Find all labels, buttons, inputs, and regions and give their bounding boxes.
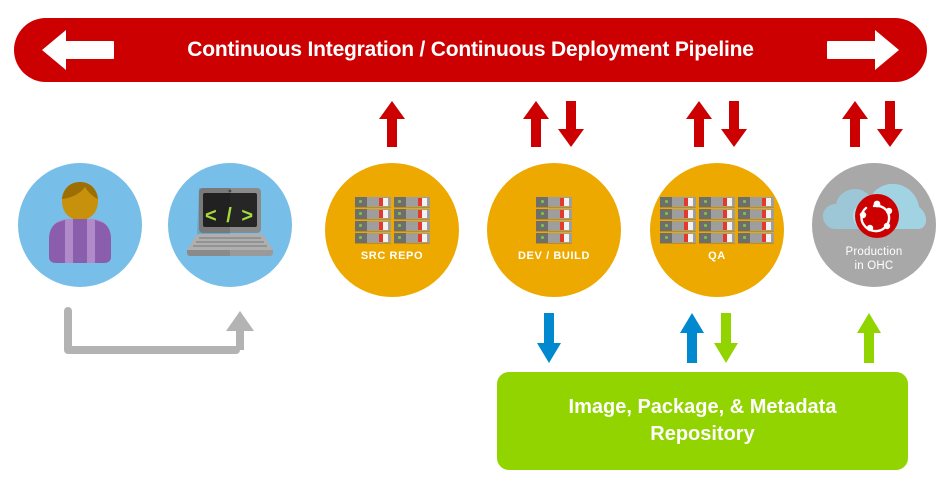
node-dev-build-label: DEV / BUILD [518,250,590,264]
node-dev-build[interactable]: DEV / BUILD [487,163,621,297]
server-rack-icon [355,197,430,244]
pipeline-banner: Continuous Integration / Continuous Depl… [14,18,927,82]
repo-arrow-production-up [855,312,883,364]
cloud-openshift-icon [822,177,926,243]
node-production-label-line1: Production [846,246,903,258]
laptop-code-icon: < / > [187,188,273,256]
pipeline-arrow-src-repo-up [377,100,407,148]
feedback-path-arrow [60,305,260,360]
server-rack-icon [536,197,572,244]
pipeline-arrow-production-down [875,100,905,148]
banner-title: Continuous Integration / Continuous Depl… [187,38,754,62]
repository-label-line1: Image, Package, & Metadata [569,396,837,418]
node-src-repo-label: SRC REPO [361,250,423,264]
person-icon [41,179,119,265]
repo-arrow-qa-up [678,312,706,364]
pipeline-arrow-production-up [840,100,870,148]
repo-arrow-dev-build-down [535,312,563,364]
node-developer[interactable] [18,163,142,287]
pipeline-arrow-qa-down [719,100,749,148]
server-rack-icon [660,197,774,244]
repository-label-line2: Repository [650,423,754,445]
node-workstation[interactable]: < / > [168,163,292,287]
node-qa-label: QA [708,250,726,264]
laptop-code-glyph: < / > [187,205,273,228]
node-src-repo[interactable]: SRC REPO [325,163,459,297]
arrow-left-icon [40,28,114,72]
diagram-canvas: Continuous Integration / Continuous Depl… [0,0,941,500]
repository-box[interactable]: Image, Package, & Metadata Repository [497,372,908,470]
node-production-label-line2: in OHC [855,260,894,272]
node-qa[interactable]: QA [650,163,784,297]
node-production-label: Production in OHC [846,245,903,274]
pipeline-arrow-dev-build-down [556,100,586,148]
pipeline-arrow-dev-build-up [521,100,551,148]
repo-arrow-qa-down [712,312,740,364]
repository-label: Image, Package, & Metadata Repository [569,394,837,448]
node-production[interactable]: Production in OHC [812,163,936,287]
arrow-right-icon [827,28,901,72]
pipeline-arrow-qa-up [684,100,714,148]
